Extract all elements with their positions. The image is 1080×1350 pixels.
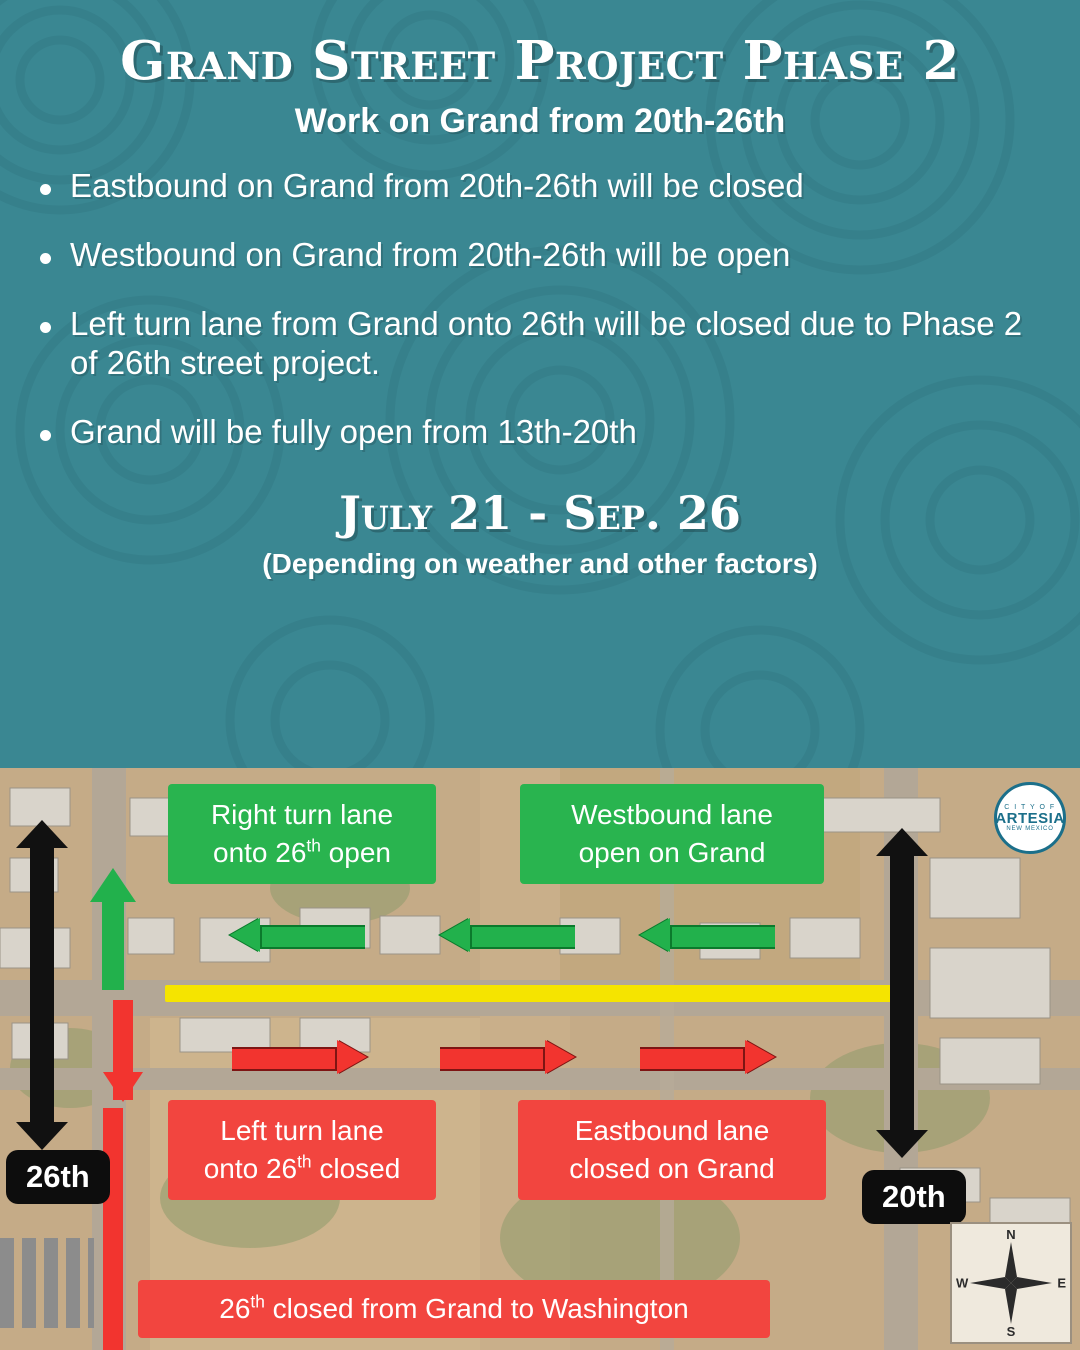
eastbound-arrow-2 — [440, 1040, 575, 1074]
label-line-1: Left turn lane — [220, 1115, 383, 1146]
compass-north-label: N — [1006, 1227, 1015, 1242]
compass-rose: N S E W — [950, 1222, 1072, 1344]
label-line-2: closed on Grand — [569, 1153, 774, 1184]
page-title: Grand Street Project Phase 2 — [0, 0, 1080, 92]
grand-center-line — [165, 985, 895, 1002]
label-line-2-pre: onto 26 — [213, 837, 306, 868]
label-line-2-post: closed — [312, 1153, 401, 1184]
infographic-poster: Grand Street Project Phase 2 Work on Gra… — [0, 0, 1080, 1350]
ordinal-suffix: th — [297, 1151, 311, 1171]
street-tag-26th: 26th — [6, 1150, 110, 1204]
westbound-arrow-2 — [440, 918, 575, 952]
label-line-2-post: open — [321, 837, 391, 868]
ordinal-suffix: th — [306, 835, 320, 855]
page-subtitle: Work on Grand from 20th-26th — [0, 102, 1080, 141]
26th-street-arrow — [16, 820, 68, 1150]
label-26th-closed-to-washington: 26th closed from Grand to Washington — [138, 1280, 770, 1338]
label-text-pre: 26 — [219, 1293, 250, 1324]
eastbound-arrow-1 — [232, 1040, 367, 1074]
label-line-1: Right turn lane — [211, 799, 393, 830]
street-tag-20th: 20th — [862, 1170, 966, 1224]
westbound-arrow-3 — [640, 918, 775, 952]
label-line-1: Westbound lane — [571, 799, 773, 830]
seal-line-2: ARTESIA — [995, 811, 1064, 826]
right-turn-open-arrow — [90, 868, 136, 994]
list-item: Eastbound on Grand from 20th-26th will b… — [26, 167, 1046, 206]
ordinal-suffix: th — [250, 1292, 264, 1312]
city-seal-logo: C I T Y O F ARTESIA NEW MEXICO — [994, 782, 1066, 854]
label-line-2-pre: onto 26 — [204, 1153, 297, 1184]
seal-line-3: NEW MEXICO — [1006, 826, 1053, 832]
label-right-turn-open: Right turn lane onto 26th open — [168, 784, 436, 884]
compass-south-label: S — [1007, 1324, 1016, 1339]
bullet-list: Eastbound on Grand from 20th-26th will b… — [0, 167, 1080, 452]
aerial-map-panel: Right turn lane onto 26th open Westbound… — [0, 768, 1080, 1350]
compass-east-label: E — [1057, 1276, 1066, 1291]
header-panel: Grand Street Project Phase 2 Work on Gra… — [0, 0, 1080, 768]
label-eastbound-closed: Eastbound lane closed on Grand — [518, 1100, 826, 1200]
project-dates: July 21 - Sep. 26 — [0, 486, 1080, 540]
compass-west-label: W — [956, 1276, 968, 1291]
20th-street-arrow — [876, 828, 928, 1158]
list-item: Left turn lane from Grand onto 26th will… — [26, 305, 1046, 383]
list-item: Grand will be fully open from 13th-20th — [26, 413, 1046, 452]
list-item: Westbound on Grand from 20th-26th will b… — [26, 236, 1046, 275]
label-left-turn-closed: Left turn lane onto 26th closed — [168, 1100, 436, 1200]
westbound-arrow-1 — [230, 918, 365, 952]
left-turn-closed-arrow — [103, 1000, 143, 1100]
label-line-1: Eastbound lane — [575, 1115, 770, 1146]
26th-closed-segment — [103, 1108, 123, 1350]
label-westbound-open: Westbound lane open on Grand — [520, 784, 824, 884]
eastbound-arrow-3 — [640, 1040, 775, 1074]
label-text-post: closed from Grand to Washington — [265, 1293, 689, 1324]
weather-disclaimer: (Depending on weather and other factors) — [0, 548, 1080, 580]
label-line-2: open on Grand — [579, 837, 766, 868]
